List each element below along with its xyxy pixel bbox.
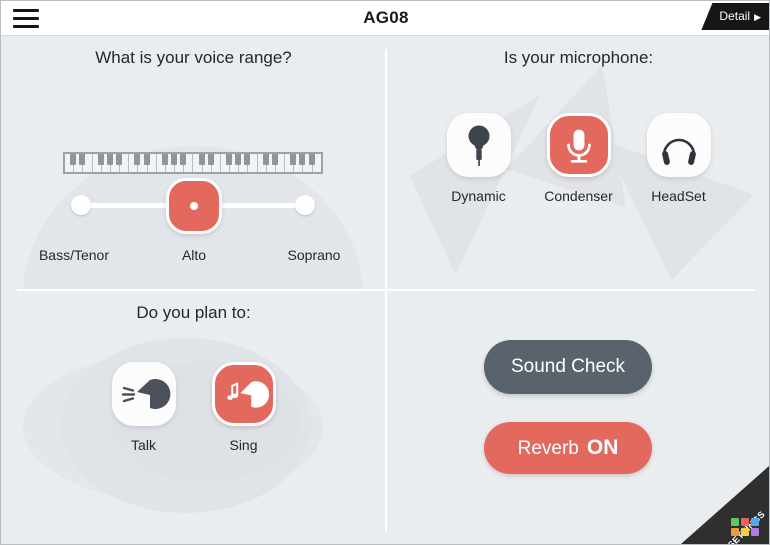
dynamic-microphone-icon xyxy=(447,113,511,177)
reverb-toggle-button[interactable]: ReverbON xyxy=(484,422,652,474)
slider-knob-soprano[interactable] xyxy=(295,195,315,215)
pad-swatch xyxy=(731,528,739,536)
microphone-label-dynamic: Dynamic xyxy=(429,188,529,204)
microphone-label-headset: HeadSet xyxy=(629,188,729,204)
talking-head-icon xyxy=(112,362,176,426)
pad-swatch xyxy=(741,518,749,526)
horizontal-divider xyxy=(17,289,755,291)
main-content: What is your voice range? Bass/Tenor Alt xyxy=(1,35,770,545)
app-title: AG08 xyxy=(1,8,770,28)
ag08-app-window: AG08 Detail▶ What is your voice range? xyxy=(0,0,770,545)
microphone-title: Is your microphone: xyxy=(386,48,770,68)
pad-swatch xyxy=(731,518,739,526)
pad-settings-color-grid xyxy=(731,518,761,536)
plan-options: Talk Sing xyxy=(1,362,386,453)
condenser-microphone-icon xyxy=(550,116,608,174)
reverb-state: ON xyxy=(587,436,619,459)
plan-title: Do you plan to: xyxy=(1,303,386,323)
dynamic-tile[interactable] xyxy=(447,113,511,177)
microphone-label-condenser: Condenser xyxy=(529,188,629,204)
chevron-right-icon: ▶ xyxy=(754,12,761,22)
pad-swatch xyxy=(751,528,759,536)
voice-range-title: What is your voice range? xyxy=(1,48,386,68)
title-bar: AG08 Detail▶ xyxy=(1,1,770,36)
talk-tile[interactable] xyxy=(112,362,176,426)
voice-range-labels: Bass/Tenor Alto Soprano xyxy=(19,247,369,263)
headset-tile[interactable] xyxy=(647,113,711,177)
detail-button[interactable]: Detail▶ xyxy=(701,3,770,30)
pad-swatch xyxy=(741,528,749,536)
voice-range-label-alto[interactable]: Alto xyxy=(139,247,249,263)
reverb-label: Reverb xyxy=(518,438,579,459)
microphone-option-dynamic[interactable]: Dynamic xyxy=(429,113,529,204)
piano-keyboard-graphic xyxy=(63,152,323,174)
singing-head-icon xyxy=(215,365,273,423)
microphone-options: Dynamic Condenser xyxy=(386,113,770,204)
plan-label-sing: Sing xyxy=(194,437,294,453)
plan-panel: Do you plan to: Talk xyxy=(1,290,386,545)
microphone-panel: Is your microphone: Dynamic xyxy=(386,35,770,290)
voice-range-label-soprano[interactable]: Soprano xyxy=(259,247,369,263)
sing-tile-selected[interactable] xyxy=(212,362,276,426)
microphone-option-condenser[interactable]: Condenser xyxy=(529,113,629,204)
slider-knob-alto-selected[interactable] xyxy=(166,178,222,234)
slider-knob-bass-tenor[interactable] xyxy=(71,195,91,215)
pad-swatch xyxy=(751,518,759,526)
voice-range-panel: What is your voice range? Bass/Tenor Alt xyxy=(1,35,386,290)
plan-option-sing[interactable]: Sing xyxy=(194,362,294,453)
plan-option-talk[interactable]: Talk xyxy=(94,362,194,453)
microphone-option-headset[interactable]: HeadSet xyxy=(629,113,729,204)
voice-range-label-bass-tenor[interactable]: Bass/Tenor xyxy=(19,247,129,263)
actions-panel: Sound Check ReverbON xyxy=(386,290,770,545)
detail-button-label: Detail xyxy=(719,9,750,23)
sound-check-button[interactable]: Sound Check xyxy=(484,340,652,394)
condenser-tile-selected[interactable] xyxy=(547,113,611,177)
plan-label-talk: Talk xyxy=(94,437,194,453)
headset-icon xyxy=(647,113,711,177)
